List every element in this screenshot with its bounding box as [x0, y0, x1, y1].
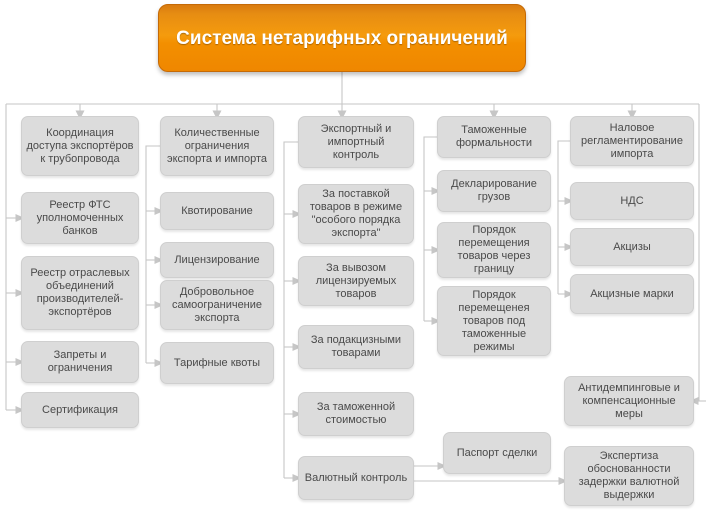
node-label: Лицензирование [165, 254, 269, 267]
node-label: Наловое регламентирование импорта [575, 122, 689, 161]
connector-col2-spine [146, 146, 160, 363]
node-zaprety-ogranicheniya[interactable]: Запреты и ограничения [21, 341, 139, 383]
node-label: Запреты и ограничения [26, 349, 134, 375]
node-kolichestvennye-ogranicheniya[interactable]: Количественные ограничения экспорта и им… [160, 116, 274, 176]
node-nalovoe-reglamentirovanie[interactable]: Наловое регламентирование импорта [570, 116, 694, 166]
node-deklarirovanie-gruzov[interactable]: Декларирование грузов [437, 170, 551, 212]
node-label: Сертификация [26, 404, 134, 417]
node-label: За поставкой товаров в режиме "особого п… [303, 188, 409, 240]
node-koordinaciya-dostupa[interactable]: Координация доступа экспортёров к трубоп… [21, 116, 139, 176]
node-label: Квотирование [165, 205, 269, 218]
node-za-podakciznymi-tovarami[interactable]: За подакцизными товарами [298, 325, 414, 369]
node-za-tamozhennoy-stoimostyu[interactable]: За таможенной стоимостью [298, 392, 414, 436]
diagram-canvas: Система нетарифных ограничений Координац… [0, 0, 715, 526]
node-label: Реестр ФТС уполномоченных банков [26, 199, 134, 238]
node-pasport-sdelki[interactable]: Паспорт сделки [443, 432, 551, 474]
root-node[interactable]: Система нетарифных ограничений [158, 4, 526, 72]
node-label: За вывозом лицензируемых товаров [303, 262, 409, 301]
node-label: Валютный контроль [303, 472, 409, 485]
node-za-postavkoy-tovarov[interactable]: За поставкой товаров в режиме "особого п… [298, 184, 414, 244]
node-ekspertiza-obosnovannosti[interactable]: Экспертиза обоснованности задержки валют… [564, 446, 694, 506]
node-label: Добровольное самоограничение экспорта [165, 286, 269, 325]
node-label: Акцизы [575, 241, 689, 254]
connector-col5-spine [558, 141, 570, 294]
node-poryadok-peremeshcheniya-cherez-granicu[interactable]: Порядок перемещения товаров через границ… [437, 222, 551, 278]
node-reestr-fts[interactable]: Реестр ФТС уполномоченных банков [21, 192, 139, 244]
node-za-vyvozom-licenziruemyh[interactable]: За вывозом лицензируемых товаров [298, 256, 414, 306]
node-label: За таможенной стоимостью [303, 401, 409, 427]
node-sertifikaciya[interactable]: Сертификация [21, 392, 139, 428]
node-label: Тарифные квоты [165, 357, 269, 370]
node-poryadok-peremeshcheniya-pod-rezhimy[interactable]: Порядок перемещенея товаров под таможенн… [437, 286, 551, 356]
node-label: НДС [575, 195, 689, 208]
node-eksportnyy-importnyy-kontrol[interactable]: Экспортный и импортный контроль [298, 116, 414, 168]
node-dobrovolnoe-samoogranichenie[interactable]: Добровольное самоограничение экспорта [160, 280, 274, 330]
node-label: Акцизные марки [575, 288, 689, 301]
root-node-label: Система нетарифных ограничений [163, 26, 521, 51]
node-akcizy[interactable]: Акцизы [570, 228, 694, 266]
connector-col3-spine [284, 142, 298, 478]
node-label: Порядок перемещения товаров через границ… [442, 224, 546, 276]
node-akciznye-marki[interactable]: Акцизные марки [570, 274, 694, 314]
node-label: Паспорт сделки [448, 447, 546, 460]
node-label: Таможенные формальности [442, 124, 546, 150]
node-antidempingovye-mery[interactable]: Антидемпинговые и компенсационные меры [564, 376, 694, 426]
node-label: Координация доступа экспортёров к трубоп… [26, 127, 134, 166]
node-label: Экспертиза обоснованности задержки валют… [569, 450, 689, 502]
connector-right-spine [699, 104, 703, 401]
node-label: Антидемпинговые и компенсационные меры [569, 382, 689, 421]
node-kvotirovanie[interactable]: Квотирование [160, 192, 274, 230]
node-valyutnyy-kontrol[interactable]: Валютный контроль [298, 456, 414, 500]
node-label: Декларирование грузов [442, 178, 546, 204]
node-tamozhennye-formalnosti[interactable]: Таможенные формальности [437, 116, 551, 158]
node-licenzirovanie[interactable]: Лицензирование [160, 242, 274, 278]
node-tarifnye-kvoty[interactable]: Тарифные квоты [160, 342, 274, 384]
node-label: Реестр отраслевых объединений производит… [26, 267, 134, 319]
connector-col4-spine [424, 137, 437, 321]
node-label: Количественные ограничения экспорта и им… [165, 127, 269, 166]
node-nds[interactable]: НДС [570, 182, 694, 220]
node-label: Экспортный и импортный контроль [303, 123, 409, 162]
node-label: Порядок перемещенея товаров под таможенн… [442, 289, 546, 354]
node-label: За подакцизными товарами [303, 334, 409, 360]
node-reestr-otraslevyh[interactable]: Реестр отраслевых объединений производит… [21, 256, 139, 330]
